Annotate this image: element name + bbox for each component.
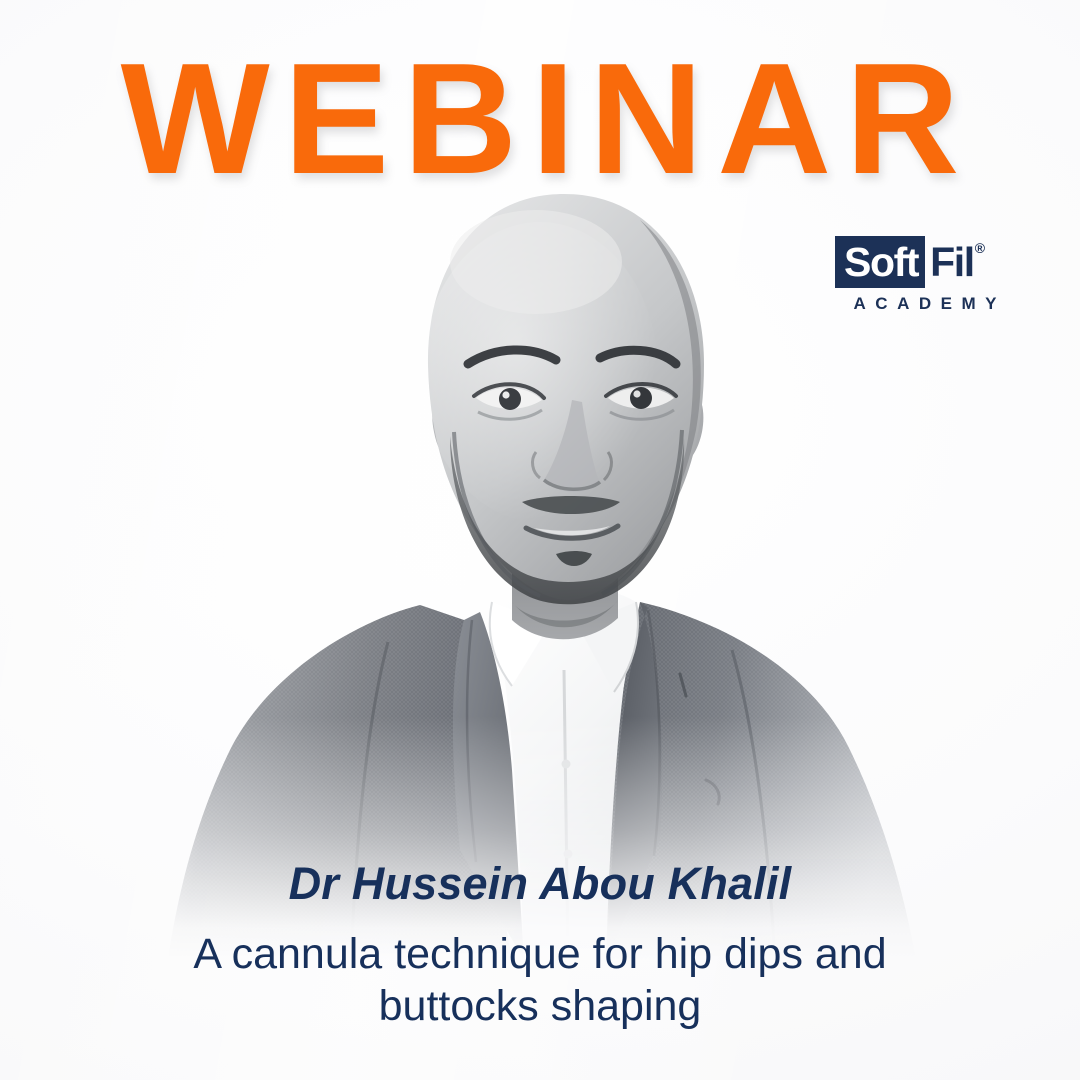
talk-title-line-1: A cannula technique for hip dips and bbox=[110, 928, 970, 980]
softfil-academy-logo: Soft Fil ® ACADEMY bbox=[835, 236, 1015, 312]
talk-title-line-2: buttocks shaping bbox=[110, 980, 970, 1032]
logo-fil-text: Fil bbox=[930, 242, 974, 283]
logo-soft-text: Soft bbox=[844, 242, 918, 283]
speaker-photo bbox=[120, 150, 960, 960]
logo-academy-text: ACADEMY bbox=[835, 295, 1015, 312]
talk-title: A cannula technique for hip dips and but… bbox=[110, 928, 970, 1032]
logo-soft-box: Soft bbox=[835, 236, 925, 288]
logo-fil-wrap: Fil ® bbox=[925, 236, 985, 288]
registered-trademark-icon: ® bbox=[975, 240, 985, 256]
logo-wordmark: Soft Fil ® bbox=[835, 236, 1015, 288]
page-title: WEBINAR bbox=[0, 44, 1080, 194]
speaker-name: Dr Hussein Abou Khalil bbox=[0, 858, 1080, 910]
webinar-poster: WEBINAR Soft Fil ® ACADEMY Dr Hussein Ab… bbox=[0, 0, 1080, 1080]
